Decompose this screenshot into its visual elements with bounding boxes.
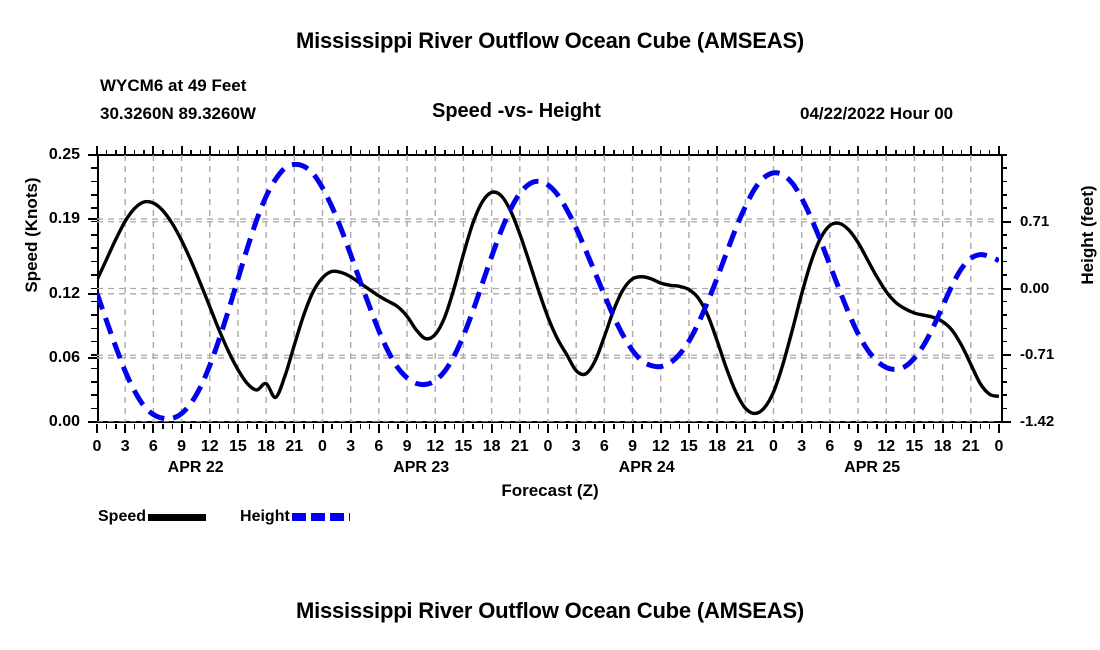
x-axis-minor-tick-top <box>980 150 981 155</box>
x-axis-minor-tick-top <box>933 150 934 155</box>
x-axis-day-label: APR 22 <box>136 459 256 477</box>
x-axis-minor-tick-top <box>905 150 906 155</box>
x-axis-minor-tick-bottom <box>247 424 248 429</box>
x-axis-minor-tick-top <box>454 150 455 155</box>
y-axis-right-minor-tick <box>1001 154 1007 156</box>
x-axis-minor-tick-top <box>651 150 652 155</box>
chart-legend: Speed Height <box>98 508 350 526</box>
x-axis-minor-tick-top <box>162 150 163 155</box>
x-axis-tick-label: 6 <box>364 438 394 456</box>
y-axis-right-minor-tick <box>1001 301 1007 303</box>
y-axis-right-minor-tick <box>1001 194 1007 196</box>
x-axis-tick-mark-bottom <box>942 424 944 433</box>
y-axis-left-tick-label: 0.00 <box>12 413 80 431</box>
y-axis-right-minor-tick <box>1001 368 1007 370</box>
x-axis-tick-mark-top <box>942 146 944 155</box>
x-axis-minor-tick-top <box>115 150 116 155</box>
x-axis-tick-mark-top <box>265 146 267 155</box>
x-axis-tick-mark-top <box>209 146 211 155</box>
y-axis-right-minor-tick <box>1001 341 1007 343</box>
y-axis-left-minor-tick <box>91 328 97 330</box>
x-axis-minor-tick-bottom <box>529 424 530 429</box>
x-axis-minor-tick-bottom <box>651 424 652 429</box>
y-axis-right-minor-tick <box>1001 221 1007 223</box>
x-axis-tick-mark-bottom <box>801 424 803 433</box>
x-axis-tick-label: 12 <box>646 438 676 456</box>
y-axis-right-minor-tick <box>1001 181 1007 183</box>
x-axis-tick-mark-top <box>350 146 352 155</box>
x-axis-tick-mark-bottom <box>96 424 98 433</box>
x-axis-minor-tick-bottom <box>641 424 642 429</box>
x-axis-minor-tick-bottom <box>219 424 220 429</box>
x-axis-minor-tick-bottom <box>905 424 906 429</box>
x-axis-tick-label: 0 <box>984 438 1014 456</box>
x-axis-minor-tick-top <box>397 150 398 155</box>
y-axis-right-minor-tick <box>1001 207 1007 209</box>
x-axis-tick-mark-top <box>322 146 324 155</box>
x-axis-minor-tick-bottom <box>933 424 934 429</box>
x-axis-minor-tick-bottom <box>764 424 765 429</box>
x-axis-tick-mark-bottom <box>124 424 126 433</box>
y-axis-right-minor-tick <box>1001 381 1007 383</box>
x-axis-tick-mark-bottom <box>237 424 239 433</box>
y-axis-right-tick-label: 0.00 <box>1020 280 1080 297</box>
x-axis-minor-tick-top <box>585 150 586 155</box>
y-axis-left-tick-label: 0.06 <box>12 349 80 367</box>
y-axis-left-minor-tick <box>91 381 97 383</box>
x-axis-minor-tick-bottom <box>256 424 257 429</box>
x-axis-tick-mark-bottom <box>773 424 775 433</box>
x-axis-tick-mark-bottom <box>829 424 831 433</box>
y-axis-left-minor-tick <box>91 234 97 236</box>
x-axis-tick-mark-bottom <box>716 424 718 433</box>
x-axis-tick-mark-bottom <box>603 424 605 433</box>
x-axis-tick-mark-bottom <box>462 424 464 433</box>
x-axis-day-label: APR 24 <box>587 459 707 477</box>
y-axis-right-tick-label: -0.71 <box>1020 346 1080 363</box>
x-axis-tick-label: 21 <box>505 438 535 456</box>
x-axis-tick-label: 18 <box>702 438 732 456</box>
x-axis-minor-tick-bottom <box>397 424 398 429</box>
x-axis-minor-tick-bottom <box>557 424 558 429</box>
x-axis-minor-tick-top <box>754 150 755 155</box>
x-axis-tick-mark-top <box>124 146 126 155</box>
x-axis-tick-mark-top <box>632 146 634 155</box>
x-axis-tick-mark-top <box>575 146 577 155</box>
x-axis-minor-tick-top <box>726 150 727 155</box>
y-axis-left-minor-tick <box>91 181 97 183</box>
x-axis-minor-tick-bottom <box>472 424 473 429</box>
y-axis-left-minor-tick <box>91 354 97 356</box>
x-axis-minor-tick-top <box>792 150 793 155</box>
x-axis-minor-tick-bottom <box>369 424 370 429</box>
y-axis-right-minor-tick <box>1001 421 1007 423</box>
x-axis-minor-tick-top <box>284 150 285 155</box>
x-axis-minor-tick-bottom <box>115 424 116 429</box>
y-axis-right-minor-tick <box>1001 234 1007 236</box>
x-axis-minor-tick-bottom <box>923 424 924 429</box>
x-axis-tick-label: 15 <box>899 438 929 456</box>
x-axis-tick-mark-bottom <box>434 424 436 433</box>
legend-swatch-height-line <box>292 513 350 521</box>
y-axis-left-minor-tick <box>91 194 97 196</box>
x-axis-tick-mark-bottom <box>575 424 577 433</box>
x-axis-minor-tick-top <box>416 150 417 155</box>
x-axis-minor-tick-bottom <box>848 424 849 429</box>
x-axis-minor-tick-top <box>275 150 276 155</box>
x-axis-minor-tick-top <box>989 150 990 155</box>
x-axis-minor-tick-top <box>190 150 191 155</box>
x-axis-tick-label: 12 <box>420 438 450 456</box>
x-axis-minor-tick-bottom <box>190 424 191 429</box>
x-axis-tick-mark-bottom <box>181 424 183 433</box>
x-axis-minor-tick-top <box>360 150 361 155</box>
x-axis-minor-tick-top <box>961 150 962 155</box>
x-axis-minor-tick-bottom <box>876 424 877 429</box>
legend-label-speed: Speed <box>98 508 146 526</box>
y-axis-left-minor-tick <box>91 288 97 290</box>
x-axis-tick-label: 18 <box>251 438 281 456</box>
x-axis-tick-mark-top <box>773 146 775 155</box>
x-axis-minor-tick-top <box>867 150 868 155</box>
x-axis-minor-tick-top <box>782 150 783 155</box>
x-axis-minor-tick-top <box>538 150 539 155</box>
x-axis-minor-tick-top <box>811 150 812 155</box>
y-axis-right-minor-tick <box>1001 247 1007 249</box>
x-axis-minor-tick-top <box>839 150 840 155</box>
x-axis-minor-tick-top <box>482 150 483 155</box>
y-axis-right-minor-tick <box>1001 288 1007 290</box>
y-axis-left-minor-tick <box>91 247 97 249</box>
x-axis-tick-mark-bottom <box>857 424 859 433</box>
x-axis-tick-mark-top <box>885 146 887 155</box>
x-axis-tick-mark-top <box>519 146 521 155</box>
x-axis-minor-tick-top <box>764 150 765 155</box>
x-axis-minor-tick-bottom <box>820 424 821 429</box>
x-axis-tick-label: 21 <box>956 438 986 456</box>
x-axis-tick-mark-top <box>970 146 972 155</box>
x-axis-tick-mark-top <box>744 146 746 155</box>
y-axis-left-minor-tick <box>91 274 97 276</box>
x-axis-minor-tick-bottom <box>388 424 389 429</box>
y-axis-left-minor-tick <box>91 301 97 303</box>
y-axis-left-minor-tick <box>91 368 97 370</box>
y-axis-left-minor-tick <box>91 221 97 223</box>
y-axis-right-minor-tick <box>1001 261 1007 263</box>
x-axis-minor-tick-bottom <box>726 424 727 429</box>
x-axis-minor-tick-top <box>444 150 445 155</box>
x-axis-minor-tick-bottom <box>566 424 567 429</box>
x-axis-minor-tick-top <box>501 150 502 155</box>
y-axis-right-minor-tick <box>1001 354 1007 356</box>
legend-entry-height: Height <box>240 508 350 526</box>
chart-canvas <box>97 155 999 422</box>
y-axis-left-minor-tick <box>91 314 97 316</box>
x-axis-minor-tick-bottom <box>707 424 708 429</box>
x-axis-minor-tick-top <box>472 150 473 155</box>
x-axis-minor-tick-bottom <box>172 424 173 429</box>
x-axis-minor-tick-top <box>679 150 680 155</box>
x-axis-minor-tick-bottom <box>228 424 229 429</box>
x-axis-minor-tick-bottom <box>106 424 107 429</box>
x-axis-minor-tick-bottom <box>162 424 163 429</box>
model-run-datetime: 04/22/2022 Hour 00 <box>800 104 953 124</box>
x-axis-tick-mark-bottom <box>885 424 887 433</box>
x-axis-minor-tick-bottom <box>416 424 417 429</box>
x-axis-tick-mark-top <box>998 146 1000 155</box>
x-axis-minor-tick-bottom <box>961 424 962 429</box>
coordinates-label: 30.3260N 89.3260W <box>100 104 256 124</box>
x-axis-minor-tick-bottom <box>989 424 990 429</box>
x-axis-tick-mark-top <box>406 146 408 155</box>
y-axis-left-minor-tick <box>91 341 97 343</box>
x-axis-minor-tick-top <box>895 150 896 155</box>
x-axis-minor-tick-top <box>200 150 201 155</box>
x-axis-minor-tick-bottom <box>782 424 783 429</box>
x-axis-tick-mark-top <box>660 146 662 155</box>
x-axis-tick-label: 0 <box>533 438 563 456</box>
y-axis-left-minor-tick <box>91 261 97 263</box>
x-axis-day-label: APR 23 <box>361 459 481 477</box>
x-axis-tick-mark-top <box>378 146 380 155</box>
x-axis-day-label: APR 25 <box>812 459 932 477</box>
x-axis-minor-tick-top <box>331 150 332 155</box>
chart-subtitle: Speed -vs- Height <box>432 100 601 123</box>
x-axis-minor-tick-bottom <box>623 424 624 429</box>
x-axis-tick-mark-top <box>829 146 831 155</box>
page-title-bottom: Mississippi River Outflow Ocean Cube (AM… <box>0 598 1100 624</box>
y-axis-right-minor-tick <box>1001 394 1007 396</box>
x-axis-tick-label: 12 <box>871 438 901 456</box>
y-axis-left-minor-tick <box>91 167 97 169</box>
x-axis-minor-tick-top <box>134 150 135 155</box>
legend-swatch-speed-line <box>148 514 206 521</box>
y-axis-left-minor-tick <box>91 394 97 396</box>
x-axis-tick-mark-top <box>547 146 549 155</box>
x-axis-minor-tick-bottom <box>200 424 201 429</box>
x-axis-tick-label: 21 <box>279 438 309 456</box>
x-axis-tick-label: 6 <box>589 438 619 456</box>
x-axis-tick-mark-top <box>491 146 493 155</box>
x-axis-tick-mark-top <box>603 146 605 155</box>
x-axis-tick-label: 21 <box>730 438 760 456</box>
x-axis-minor-tick-top <box>143 150 144 155</box>
x-axis-minor-tick-bottom <box>895 424 896 429</box>
x-axis-minor-tick-top <box>923 150 924 155</box>
x-axis-tick-label: 18 <box>477 438 507 456</box>
x-axis-minor-tick-bottom <box>792 424 793 429</box>
y-axis-left-minor-tick <box>91 421 97 423</box>
x-axis-tick-mark-bottom <box>998 424 1000 433</box>
y-axis-right-minor-tick <box>1001 167 1007 169</box>
x-axis-tick-mark-bottom <box>519 424 521 433</box>
x-axis-tick-mark-top <box>434 146 436 155</box>
x-axis-minor-tick-top <box>623 150 624 155</box>
x-axis-tick-mark-bottom <box>152 424 154 433</box>
x-axis-tick-mark-bottom <box>688 424 690 433</box>
y-axis-left-minor-tick <box>91 408 97 410</box>
y-axis-left-tick-mark <box>88 293 97 295</box>
x-axis-tick-mark-bottom <box>322 424 324 433</box>
x-axis-tick-label: 0 <box>759 438 789 456</box>
x-axis-minor-tick-bottom <box>510 424 511 429</box>
x-axis-minor-tick-bottom <box>698 424 699 429</box>
x-axis-minor-tick-bottom <box>501 424 502 429</box>
x-axis-minor-tick-bottom <box>482 424 483 429</box>
x-axis-minor-tick-top <box>557 150 558 155</box>
legend-entry-speed: Speed <box>98 508 206 526</box>
x-axis-tick-mark-top <box>96 146 98 155</box>
y-axis-right-tick-label: 0.71 <box>1020 213 1080 230</box>
x-axis-minor-tick-bottom <box>867 424 868 429</box>
y-axis-right-minor-tick <box>1001 328 1007 330</box>
x-axis-minor-tick-top <box>219 150 220 155</box>
x-axis-tick-mark-bottom <box>632 424 634 433</box>
x-axis-minor-tick-bottom <box>754 424 755 429</box>
x-axis-minor-tick-top <box>670 150 671 155</box>
x-axis-tick-mark-bottom <box>744 424 746 433</box>
x-axis-minor-tick-bottom <box>594 424 595 429</box>
y-axis-right-minor-tick <box>1001 314 1007 316</box>
x-axis-tick-mark-top <box>857 146 859 155</box>
x-axis-tick-label: 12 <box>195 438 225 456</box>
x-axis-tick-mark-bottom <box>378 424 380 433</box>
x-axis-tick-label: 3 <box>110 438 140 456</box>
x-axis-tick-mark-bottom <box>491 424 493 433</box>
x-axis-tick-label: 6 <box>138 438 168 456</box>
x-axis-minor-tick-bottom <box>952 424 953 429</box>
x-axis-tick-mark-top <box>913 146 915 155</box>
x-axis-minor-tick-top <box>529 150 530 155</box>
x-axis-minor-tick-top <box>369 150 370 155</box>
x-axis-tick-label: 9 <box>392 438 422 456</box>
x-axis-tick-mark-top <box>688 146 690 155</box>
x-axis-minor-tick-top <box>256 150 257 155</box>
y-axis-left-minor-tick <box>91 207 97 209</box>
x-axis-minor-tick-top <box>707 150 708 155</box>
x-axis-minor-tick-top <box>641 150 642 155</box>
x-axis-minor-tick-bottom <box>454 424 455 429</box>
x-axis-minor-tick-top <box>566 150 567 155</box>
x-axis-tick-mark-bottom <box>406 424 408 433</box>
x-axis-minor-tick-bottom <box>360 424 361 429</box>
x-axis-tick-label: 15 <box>223 438 253 456</box>
x-axis-tick-mark-bottom <box>660 424 662 433</box>
x-axis-minor-tick-top <box>106 150 107 155</box>
x-axis-minor-tick-bottom <box>839 424 840 429</box>
legend-label-height: Height <box>240 508 290 526</box>
x-axis-tick-mark-top <box>237 146 239 155</box>
x-axis-tick-label: 18 <box>928 438 958 456</box>
x-axis-minor-tick-top <box>952 150 953 155</box>
x-axis-minor-tick-top <box>228 150 229 155</box>
x-axis-minor-tick-bottom <box>811 424 812 429</box>
x-axis-minor-tick-top <box>613 150 614 155</box>
x-axis-minor-tick-top <box>698 150 699 155</box>
x-axis-tick-label: 15 <box>448 438 478 456</box>
x-axis-tick-mark-bottom <box>209 424 211 433</box>
x-axis-tick-label: 3 <box>787 438 817 456</box>
x-axis-minor-tick-bottom <box>613 424 614 429</box>
x-axis-tick-label: 0 <box>308 438 338 456</box>
x-axis-minor-tick-top <box>848 150 849 155</box>
x-axis-minor-tick-top <box>425 150 426 155</box>
x-axis-minor-tick-bottom <box>980 424 981 429</box>
x-axis-minor-tick-top <box>313 150 314 155</box>
x-axis-minor-tick-bottom <box>341 424 342 429</box>
x-axis-minor-tick-top <box>594 150 595 155</box>
y-axis-left-title: Speed (Knots) <box>22 155 42 315</box>
y-axis-right-minor-tick <box>1001 274 1007 276</box>
x-axis-minor-tick-bottom <box>444 424 445 429</box>
x-axis-tick-mark-bottom <box>293 424 295 433</box>
x-axis-title: Forecast (Z) <box>0 481 1100 501</box>
station-label: WYCM6 at 49 Feet <box>100 76 246 96</box>
x-axis-minor-tick-bottom <box>134 424 135 429</box>
x-axis-tick-label: 3 <box>336 438 366 456</box>
x-axis-minor-tick-bottom <box>679 424 680 429</box>
x-axis-tick-label: 9 <box>618 438 648 456</box>
y-axis-right-tick-label: -1.42 <box>1020 413 1080 430</box>
x-axis-minor-tick-top <box>820 150 821 155</box>
x-axis-tick-mark-bottom <box>350 424 352 433</box>
x-axis-tick-mark-bottom <box>265 424 267 433</box>
x-axis-minor-tick-bottom <box>670 424 671 429</box>
x-axis-minor-tick-bottom <box>735 424 736 429</box>
x-axis-minor-tick-bottom <box>585 424 586 429</box>
x-axis-minor-tick-top <box>388 150 389 155</box>
x-axis-tick-label: 6 <box>815 438 845 456</box>
y-axis-left-tick-mark <box>88 357 97 359</box>
x-axis-tick-mark-top <box>716 146 718 155</box>
x-axis-minor-tick-bottom <box>143 424 144 429</box>
x-axis-tick-label: 0 <box>82 438 112 456</box>
chart-page: Mississippi River Outflow Ocean Cube (AM… <box>0 0 1100 650</box>
x-axis-tick-mark-top <box>462 146 464 155</box>
x-axis-minor-tick-top <box>876 150 877 155</box>
x-axis-tick-mark-top <box>801 146 803 155</box>
x-axis-minor-tick-bottom <box>331 424 332 429</box>
x-axis-tick-label: 9 <box>167 438 197 456</box>
x-axis-minor-tick-top <box>341 150 342 155</box>
x-axis-tick-mark-bottom <box>547 424 549 433</box>
y-axis-right-title: Height (feet) <box>1078 155 1098 315</box>
page-title-top: Mississippi River Outflow Ocean Cube (AM… <box>0 28 1100 54</box>
x-axis-tick-label: 9 <box>843 438 873 456</box>
x-axis-tick-label: 15 <box>674 438 704 456</box>
x-axis-minor-tick-bottom <box>538 424 539 429</box>
x-axis-minor-tick-bottom <box>425 424 426 429</box>
x-axis-tick-mark-top <box>152 146 154 155</box>
y-axis-right-minor-tick <box>1001 408 1007 410</box>
x-axis-minor-tick-top <box>510 150 511 155</box>
x-axis-tick-label: 3 <box>561 438 591 456</box>
x-axis-minor-tick-top <box>172 150 173 155</box>
x-axis-minor-tick-bottom <box>303 424 304 429</box>
x-axis-minor-tick-top <box>247 150 248 155</box>
x-axis-tick-mark-bottom <box>970 424 972 433</box>
x-axis-minor-tick-bottom <box>284 424 285 429</box>
x-axis-minor-tick-bottom <box>275 424 276 429</box>
x-axis-minor-tick-top <box>735 150 736 155</box>
x-axis-tick-mark-top <box>181 146 183 155</box>
x-axis-minor-tick-top <box>303 150 304 155</box>
x-axis-minor-tick-bottom <box>313 424 314 429</box>
x-axis-tick-mark-bottom <box>913 424 915 433</box>
x-axis-tick-mark-top <box>293 146 295 155</box>
